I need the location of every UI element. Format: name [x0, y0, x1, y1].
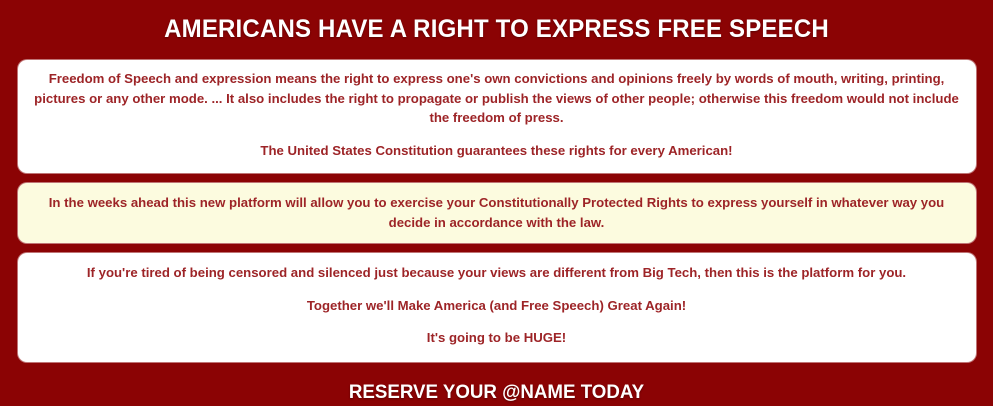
- panel-call-to-action-message: If you're tired of being censored and si…: [18, 253, 976, 362]
- panel-3-paragraph-1: If you're tired of being censored and si…: [32, 263, 962, 283]
- reserve-name-call-to-action[interactable]: RESERVE YOUR @NAME TODAY: [20, 383, 973, 403]
- panel-3-paragraph-3: It's going to be HUGE!: [32, 328, 962, 348]
- panel-2-paragraph-1: In the weeks ahead this new platform wil…: [32, 193, 962, 232]
- panel-1-paragraph-2: The United States Constitution guarantee…: [32, 141, 962, 161]
- panel-3-paragraph-2: Together we'll Make America (and Free Sp…: [32, 296, 962, 316]
- page-title: AMERICANS HAVE A RIGHT TO EXPRESS FREE S…: [20, 17, 973, 42]
- panel-platform-promise: In the weeks ahead this new platform wil…: [18, 183, 976, 243]
- panel-free-speech-definition: Freedom of Speech and expression means t…: [18, 60, 976, 173]
- panel-1-paragraph-1: Freedom of Speech and expression means t…: [32, 69, 962, 128]
- panel-stack: Freedom of Speech and expression means t…: [18, 60, 976, 362]
- free-speech-promo-page: AMERICANS HAVE A RIGHT TO EXPRESS FREE S…: [0, 0, 993, 406]
